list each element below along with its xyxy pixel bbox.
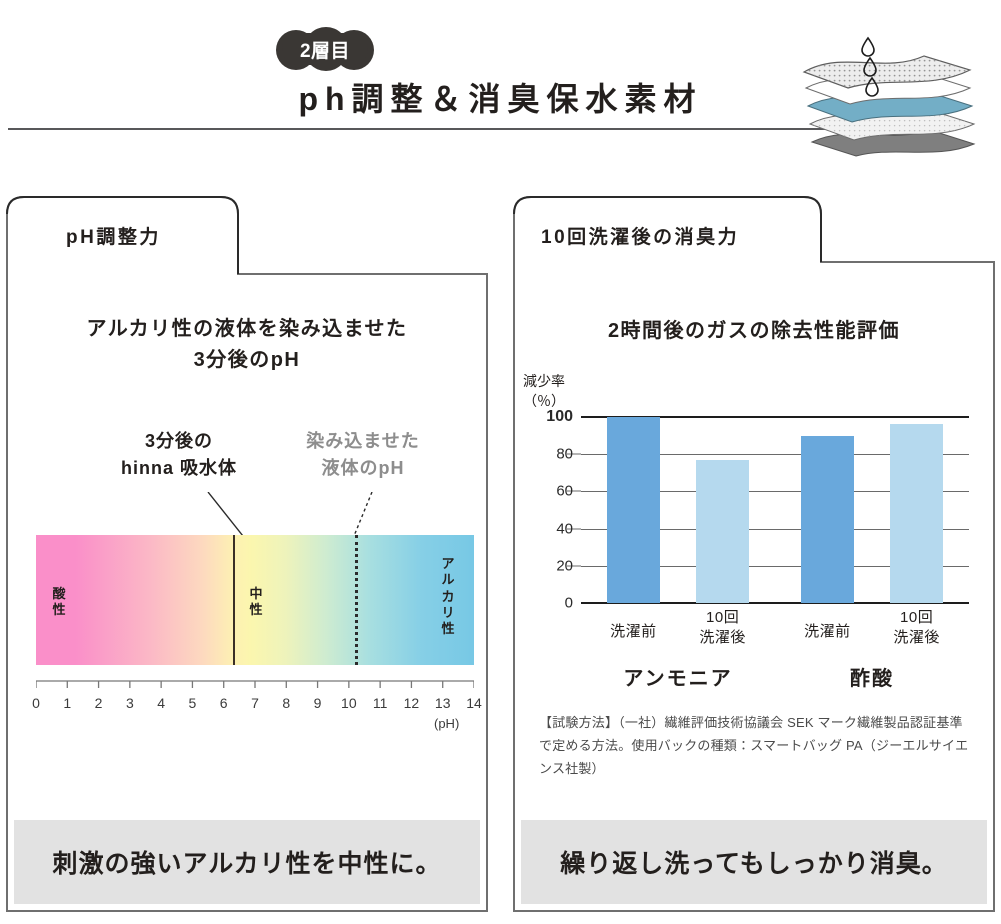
chart-ytick-label-60: 60	[556, 483, 573, 500]
chart-bar-label-4: 10回洗濯後	[893, 608, 940, 649]
ph-marker-hinna	[233, 535, 235, 665]
chart-group-labels: アンモニア酢酸	[581, 662, 969, 696]
chart-test-method-note: 【試験方法】（一社）繊維評価技術協議会 SEK マーク繊維製品認証基準で定める方…	[539, 712, 973, 780]
chart-bar-3	[801, 436, 854, 603]
chart-ytick-label-20: 20	[556, 557, 573, 574]
ph-tick-1: 1	[63, 695, 71, 711]
chart-bar-2	[696, 460, 749, 603]
chart-group-label-2: 酢酸	[850, 662, 894, 691]
ph-tick-8: 8	[282, 695, 290, 711]
chart-ytick-label-100: 100	[546, 408, 573, 426]
chart-bar-label-2: 10回洗濯後	[699, 608, 746, 649]
left-panel-footer-banner: 刺激の強いアルカリ性を中性に。	[14, 820, 480, 904]
chart-y-axis-title: 減少率 （％）	[523, 372, 565, 411]
callout-b-line-2: 液体のpH	[278, 455, 448, 482]
ph-tick-10: 10	[341, 695, 357, 711]
chart-bar-label-line1: 洗濯前	[804, 622, 851, 642]
ph-label-neutral: 中性	[245, 586, 267, 619]
ph-label-acidic: 酸性	[48, 586, 70, 619]
chart-plot-area: 020406080100	[581, 417, 969, 603]
y-axis-title-line-1: 減少率	[523, 372, 565, 392]
ph-label-alkaline: アルカリ性	[438, 556, 458, 637]
ph-tick-13: 13	[435, 695, 451, 711]
leader-line-dotted	[346, 492, 390, 536]
leader-line-solid	[206, 492, 250, 536]
ph-axis-ruler	[36, 680, 474, 694]
chart-bar-label-line1: 10回	[893, 608, 940, 628]
chart-bar-label-3: 洗濯前	[804, 608, 851, 642]
chart-group-label-1: アンモニア	[623, 662, 732, 691]
ph-tick-12: 12	[404, 695, 420, 711]
chart-bar-label-line2: 洗濯後	[893, 628, 940, 648]
ph-tick-2: 2	[95, 695, 103, 711]
gas-removal-bar-chart: 減少率 （％） 020406080100 洗濯前10回洗濯後洗濯前10回洗濯後 …	[513, 196, 995, 912]
ph-tick-6: 6	[220, 695, 228, 711]
chart-bar-4	[890, 424, 943, 603]
ph-tick-11: 11	[373, 695, 388, 711]
ph-tick-0: 0	[32, 695, 40, 711]
ph-tick-7: 7	[251, 695, 259, 711]
callout-soaked-liquid-ph: 染み込ませた 液体のpH	[278, 428, 448, 482]
panel-ph-adjustment: pH調整力 アルカリ性の液体を染み込ませた 3分後のpH 3分後の hinna …	[6, 196, 488, 912]
ph-tick-4: 4	[157, 695, 165, 711]
chart-bar-1	[607, 417, 660, 603]
ph-scale-figure: 3分後の hinna 吸水体 染み込ませた 液体のpH 酸性 中	[6, 196, 488, 912]
badge-label: 2層目	[276, 27, 374, 71]
chart-ytick-label-40: 40	[556, 520, 573, 537]
chart-bar-label-line2: 洗濯後	[699, 628, 746, 648]
layered-fabric-icon	[798, 24, 988, 164]
panels-container: pH調整力 アルカリ性の液体を染み込ませた 3分後のpH 3分後の hinna …	[0, 196, 1001, 924]
chart-bar-label-1: 洗濯前	[610, 608, 657, 642]
callout-b-line-1: 染み込ませた	[278, 428, 448, 455]
ph-tick-9: 9	[314, 695, 322, 711]
chart-bar-label-line1: 洗濯前	[610, 622, 657, 642]
chart-ytick-label-0: 0	[565, 595, 573, 612]
callout-a-line-2: hinna 吸水体	[84, 455, 274, 482]
ph-tick-5: 5	[189, 695, 197, 711]
callout-a-line-1: 3分後の	[84, 428, 274, 455]
ph-tick-14: 14	[466, 695, 482, 711]
chart-bar-label-line1: 10回	[699, 608, 746, 628]
ph-marker-liquid	[355, 535, 358, 665]
page-header: 2層目 ph調整＆消臭保水素材	[0, 0, 1001, 140]
header-divider	[8, 128, 854, 130]
right-panel-footer-banner: 繰り返し洗ってもしっかり消臭。	[521, 820, 987, 904]
ph-tick-3: 3	[126, 695, 134, 711]
layer-number-badge: 2層目	[276, 27, 374, 71]
chart-ytick-label-80: 80	[556, 446, 573, 463]
ph-axis-unit-label: (pH)	[434, 716, 459, 731]
ph-axis-tick-labels: 01234567891011121314	[36, 695, 474, 715]
panel-deodorizing-power: 10回洗濯後の消臭力 2時間後のガスの除去性能評価 減少率 （％） 020406…	[513, 196, 995, 912]
callout-hinna-absorber: 3分後の hinna 吸水体	[84, 428, 274, 482]
chart-bar-labels: 洗濯前10回洗濯後洗濯前10回洗濯後	[581, 608, 969, 658]
